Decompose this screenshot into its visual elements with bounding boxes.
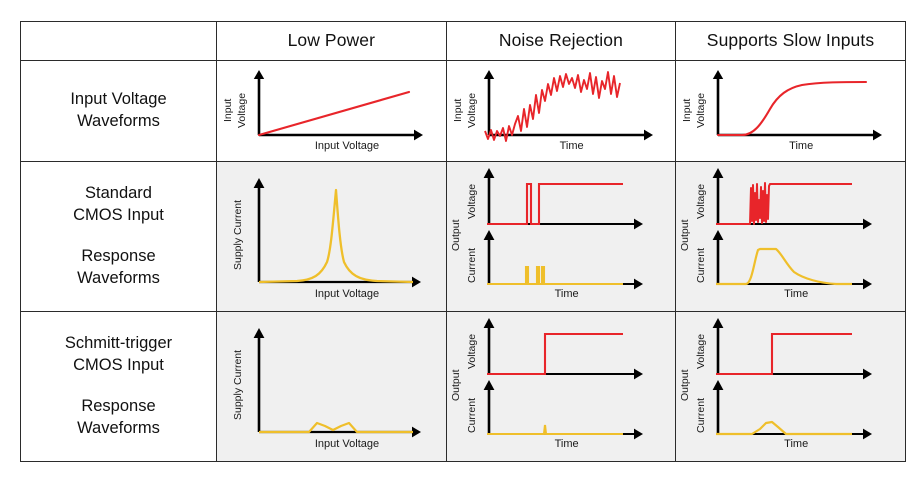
row-label-line-2: Waveforms <box>21 111 216 133</box>
row-label-input-voltage-waveforms: Input Voltage Waveforms <box>21 60 217 161</box>
plot-cell-low-power-input: Input Voltage Input Voltage <box>217 60 447 161</box>
chart-r2c1 <box>217 162 447 308</box>
row-label-line-2: CMOS Input <box>21 205 216 227</box>
trace-output-current <box>487 425 623 434</box>
table-header-row: Low Power Noise Rejection Supports Slow … <box>21 22 906 61</box>
header-noise-rejection: Noise Rejection <box>446 22 676 61</box>
plot-cell-schmitt-supply-current: Supply Current Input Voltage <box>217 311 447 461</box>
trace-slow-input <box>718 82 866 135</box>
plot-cell-standard-slow-input: Output Voltage Current Time <box>676 161 906 311</box>
plot-cell-standard-supply-current: Supply Current Input Voltage <box>217 161 447 311</box>
row-label-line-4: Waveforms <box>21 268 216 290</box>
chart-r1c2 <box>447 61 677 159</box>
trace-output-voltage <box>716 334 852 374</box>
chart-r1c1 <box>217 61 447 159</box>
trace-supply-current <box>259 423 413 432</box>
row-label-line-1: Schmitt-trigger <box>21 333 216 355</box>
row-label-schmitt-trigger: Schmitt-trigger CMOS Input Response Wave… <box>21 311 217 461</box>
comparison-figure: Low Power Noise Rejection Supports Slow … <box>0 0 923 484</box>
table-row-input-voltage-waveforms: Input Voltage Waveforms Input Voltage In… <box>21 60 906 161</box>
row-label-line-2: CMOS Input <box>21 355 216 377</box>
trace-noisy-input <box>485 72 620 141</box>
plot-cell-schmitt-slow-input: Output Voltage Current Time <box>676 311 906 461</box>
trace-output-voltage <box>716 183 852 224</box>
row-label-line-3: Response <box>21 246 216 268</box>
trace-output-current <box>716 249 852 284</box>
trace-output-current <box>716 422 852 434</box>
chart-r1c3 <box>676 61 906 159</box>
header-blank-cell <box>21 22 217 61</box>
header-supports-slow-inputs: Supports Slow Inputs <box>676 22 906 61</box>
trace-output-voltage <box>487 334 623 374</box>
trace-supply-current <box>259 190 413 282</box>
chart-r3c3 <box>676 312 906 458</box>
trace-output-voltage <box>487 184 623 224</box>
row-label-standard-cmos: Standard CMOS Input Response Waveforms <box>21 161 217 311</box>
plot-cell-standard-noise-rejection: Output Voltage Current Time <box>446 161 676 311</box>
table-row-standard-cmos: Standard CMOS Input Response Waveforms S… <box>21 161 906 311</box>
row-label-line-3: Response <box>21 396 216 418</box>
plot-cell-noise-rejection-input: Input Voltage Time <box>446 60 676 161</box>
trace-output-current <box>487 267 623 284</box>
chart-r3c2 <box>447 312 677 458</box>
chart-r2c2 <box>447 162 677 308</box>
row-label-line-4: Waveforms <box>21 418 216 440</box>
chart-r3c1 <box>217 312 447 458</box>
row-label-line-1: Input Voltage <box>21 89 216 111</box>
table-row-schmitt-trigger: Schmitt-trigger CMOS Input Response Wave… <box>21 311 906 461</box>
trace-input-voltage <box>259 92 409 135</box>
cmos-input-comparison-table: Low Power Noise Rejection Supports Slow … <box>20 21 906 462</box>
plot-cell-schmitt-noise-rejection: Output Voltage Current Time <box>446 311 676 461</box>
row-label-line-1: Standard <box>21 183 216 205</box>
header-low-power: Low Power <box>217 22 447 61</box>
plot-cell-slow-input-input: Input Voltage Time <box>676 60 906 161</box>
chart-r2c3 <box>676 162 906 308</box>
